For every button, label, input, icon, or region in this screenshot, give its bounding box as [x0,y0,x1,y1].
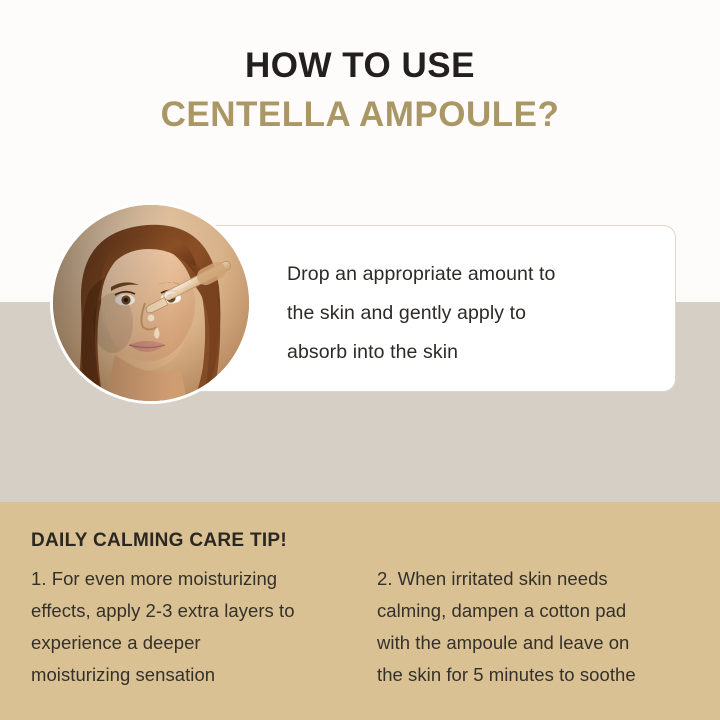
tip-line: moisturizing sensation [31,659,361,691]
tip-line: 1. For even more moisturizing [31,563,361,595]
page-title-line-1: HOW TO USE [0,48,720,83]
tip-line: experience a deeper [31,627,361,659]
promo-graphic: HOW TO USE CENTELLA AMPOULE? Drop an app… [0,0,720,720]
instruction-line: the skin and gently apply to [287,294,657,333]
instruction-card-text: Drop an appropriate amount to the skin a… [287,255,657,372]
model-photo [53,205,249,401]
tip-line: with the ampoule and leave on [377,627,707,659]
model-photo-illustration [53,205,249,401]
instruction-line: Drop an appropriate amount to [287,255,657,294]
tip-line: calming, dampen a cotton pad [377,595,707,627]
tip-section-title: DAILY CALMING CARE TIP! [31,531,287,550]
instruction-line: absorb into the skin [287,333,657,372]
tip-column-left: 1. For even more moisturizing effects, a… [31,563,361,691]
tip-line: the skin for 5 minutes to soothe [377,659,707,691]
tip-line: effects, apply 2-3 extra layers to [31,595,361,627]
tip-column-right: 2. When irritated skin needs calming, da… [377,563,707,691]
tip-line: 2. When irritated skin needs [377,563,707,595]
page-title-line-2: CENTELLA AMPOULE? [0,97,720,132]
